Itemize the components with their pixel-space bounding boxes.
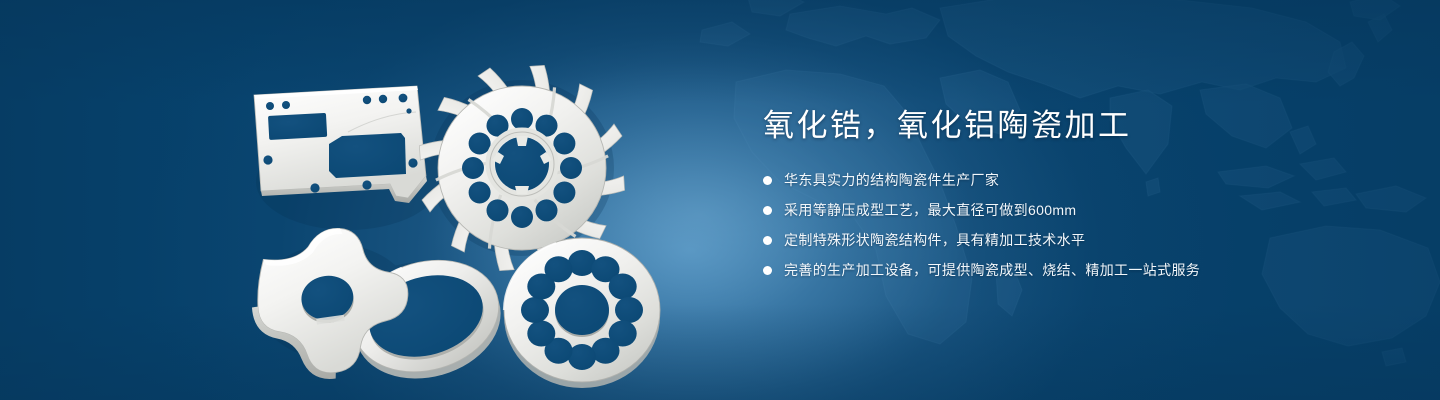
list-item-label: 华东具实力的结构陶瓷件生产厂家 xyxy=(784,171,999,190)
list-item-label: 完善的生产加工设备，可提供陶瓷成型、烧结、精加工一站式服务 xyxy=(784,261,1200,280)
bullet-dot-icon xyxy=(763,266,772,275)
ceramic-plate xyxy=(254,86,427,203)
list-item: 华东具实力的结构陶瓷件生产厂家 xyxy=(763,171,1363,190)
ceramic-perforated-disc xyxy=(504,238,660,388)
feature-list: 华东具实力的结构陶瓷件生产厂家 采用等静压成型工艺，最大直径可做到600mm 定… xyxy=(763,171,1363,280)
bullet-dot-icon xyxy=(763,206,772,215)
list-item: 采用等静压成型工艺，最大直径可做到600mm xyxy=(763,201,1363,220)
page-title: 氧化锆，氧化铝陶瓷加工 xyxy=(763,108,1363,144)
list-item-label: 采用等静压成型工艺，最大直径可做到600mm xyxy=(784,201,1076,220)
ceramic-products-image xyxy=(230,40,700,380)
list-item: 定制特殊形状陶瓷结构件，具有精加工技术水平 xyxy=(763,231,1363,250)
promo-banner: 氧化锆，氧化铝陶瓷加工 华东具实力的结构陶瓷件生产厂家 采用等静压成型工艺，最大… xyxy=(0,0,1440,400)
list-item: 完善的生产加工设备，可提供陶瓷成型、烧结、精加工一站式服务 xyxy=(763,261,1363,280)
list-item-label: 定制特殊形状陶瓷结构件，具有精加工技术水平 xyxy=(784,231,1085,250)
banner-copy: 氧化锆，氧化铝陶瓷加工 华东具实力的结构陶瓷件生产厂家 采用等静压成型工艺，最大… xyxy=(763,108,1363,280)
bullet-dot-icon xyxy=(763,236,772,245)
bullet-dot-icon xyxy=(763,176,772,185)
